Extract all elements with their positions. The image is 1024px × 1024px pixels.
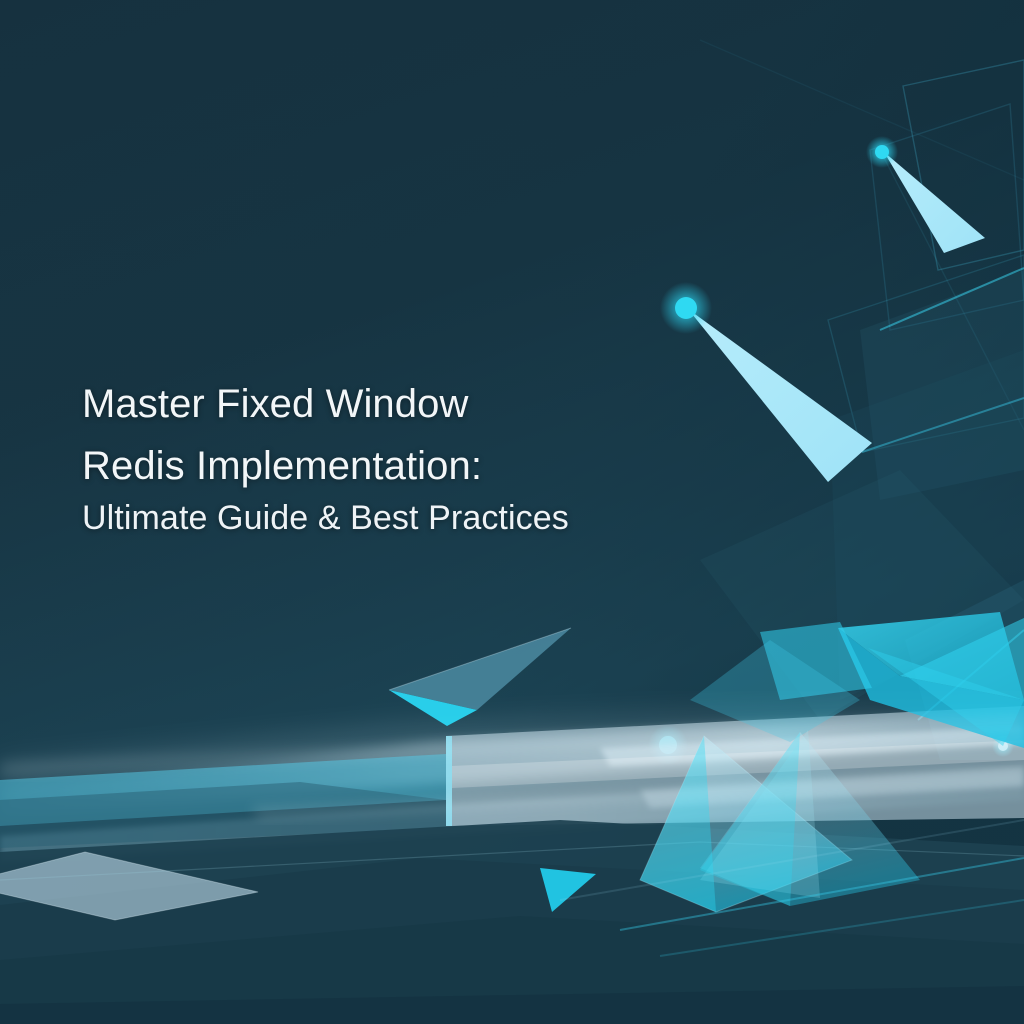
title-block: Master Fixed Window Redis Implementation… bbox=[82, 372, 702, 540]
page-subtitle: Ultimate Guide & Best Practices bbox=[82, 496, 702, 540]
page-title-line-1: Master Fixed Window bbox=[82, 372, 702, 436]
page-title-line-2: Redis Implementation: bbox=[82, 434, 702, 498]
hero-banner: Master Fixed Window Redis Implementation… bbox=[0, 0, 1024, 1024]
